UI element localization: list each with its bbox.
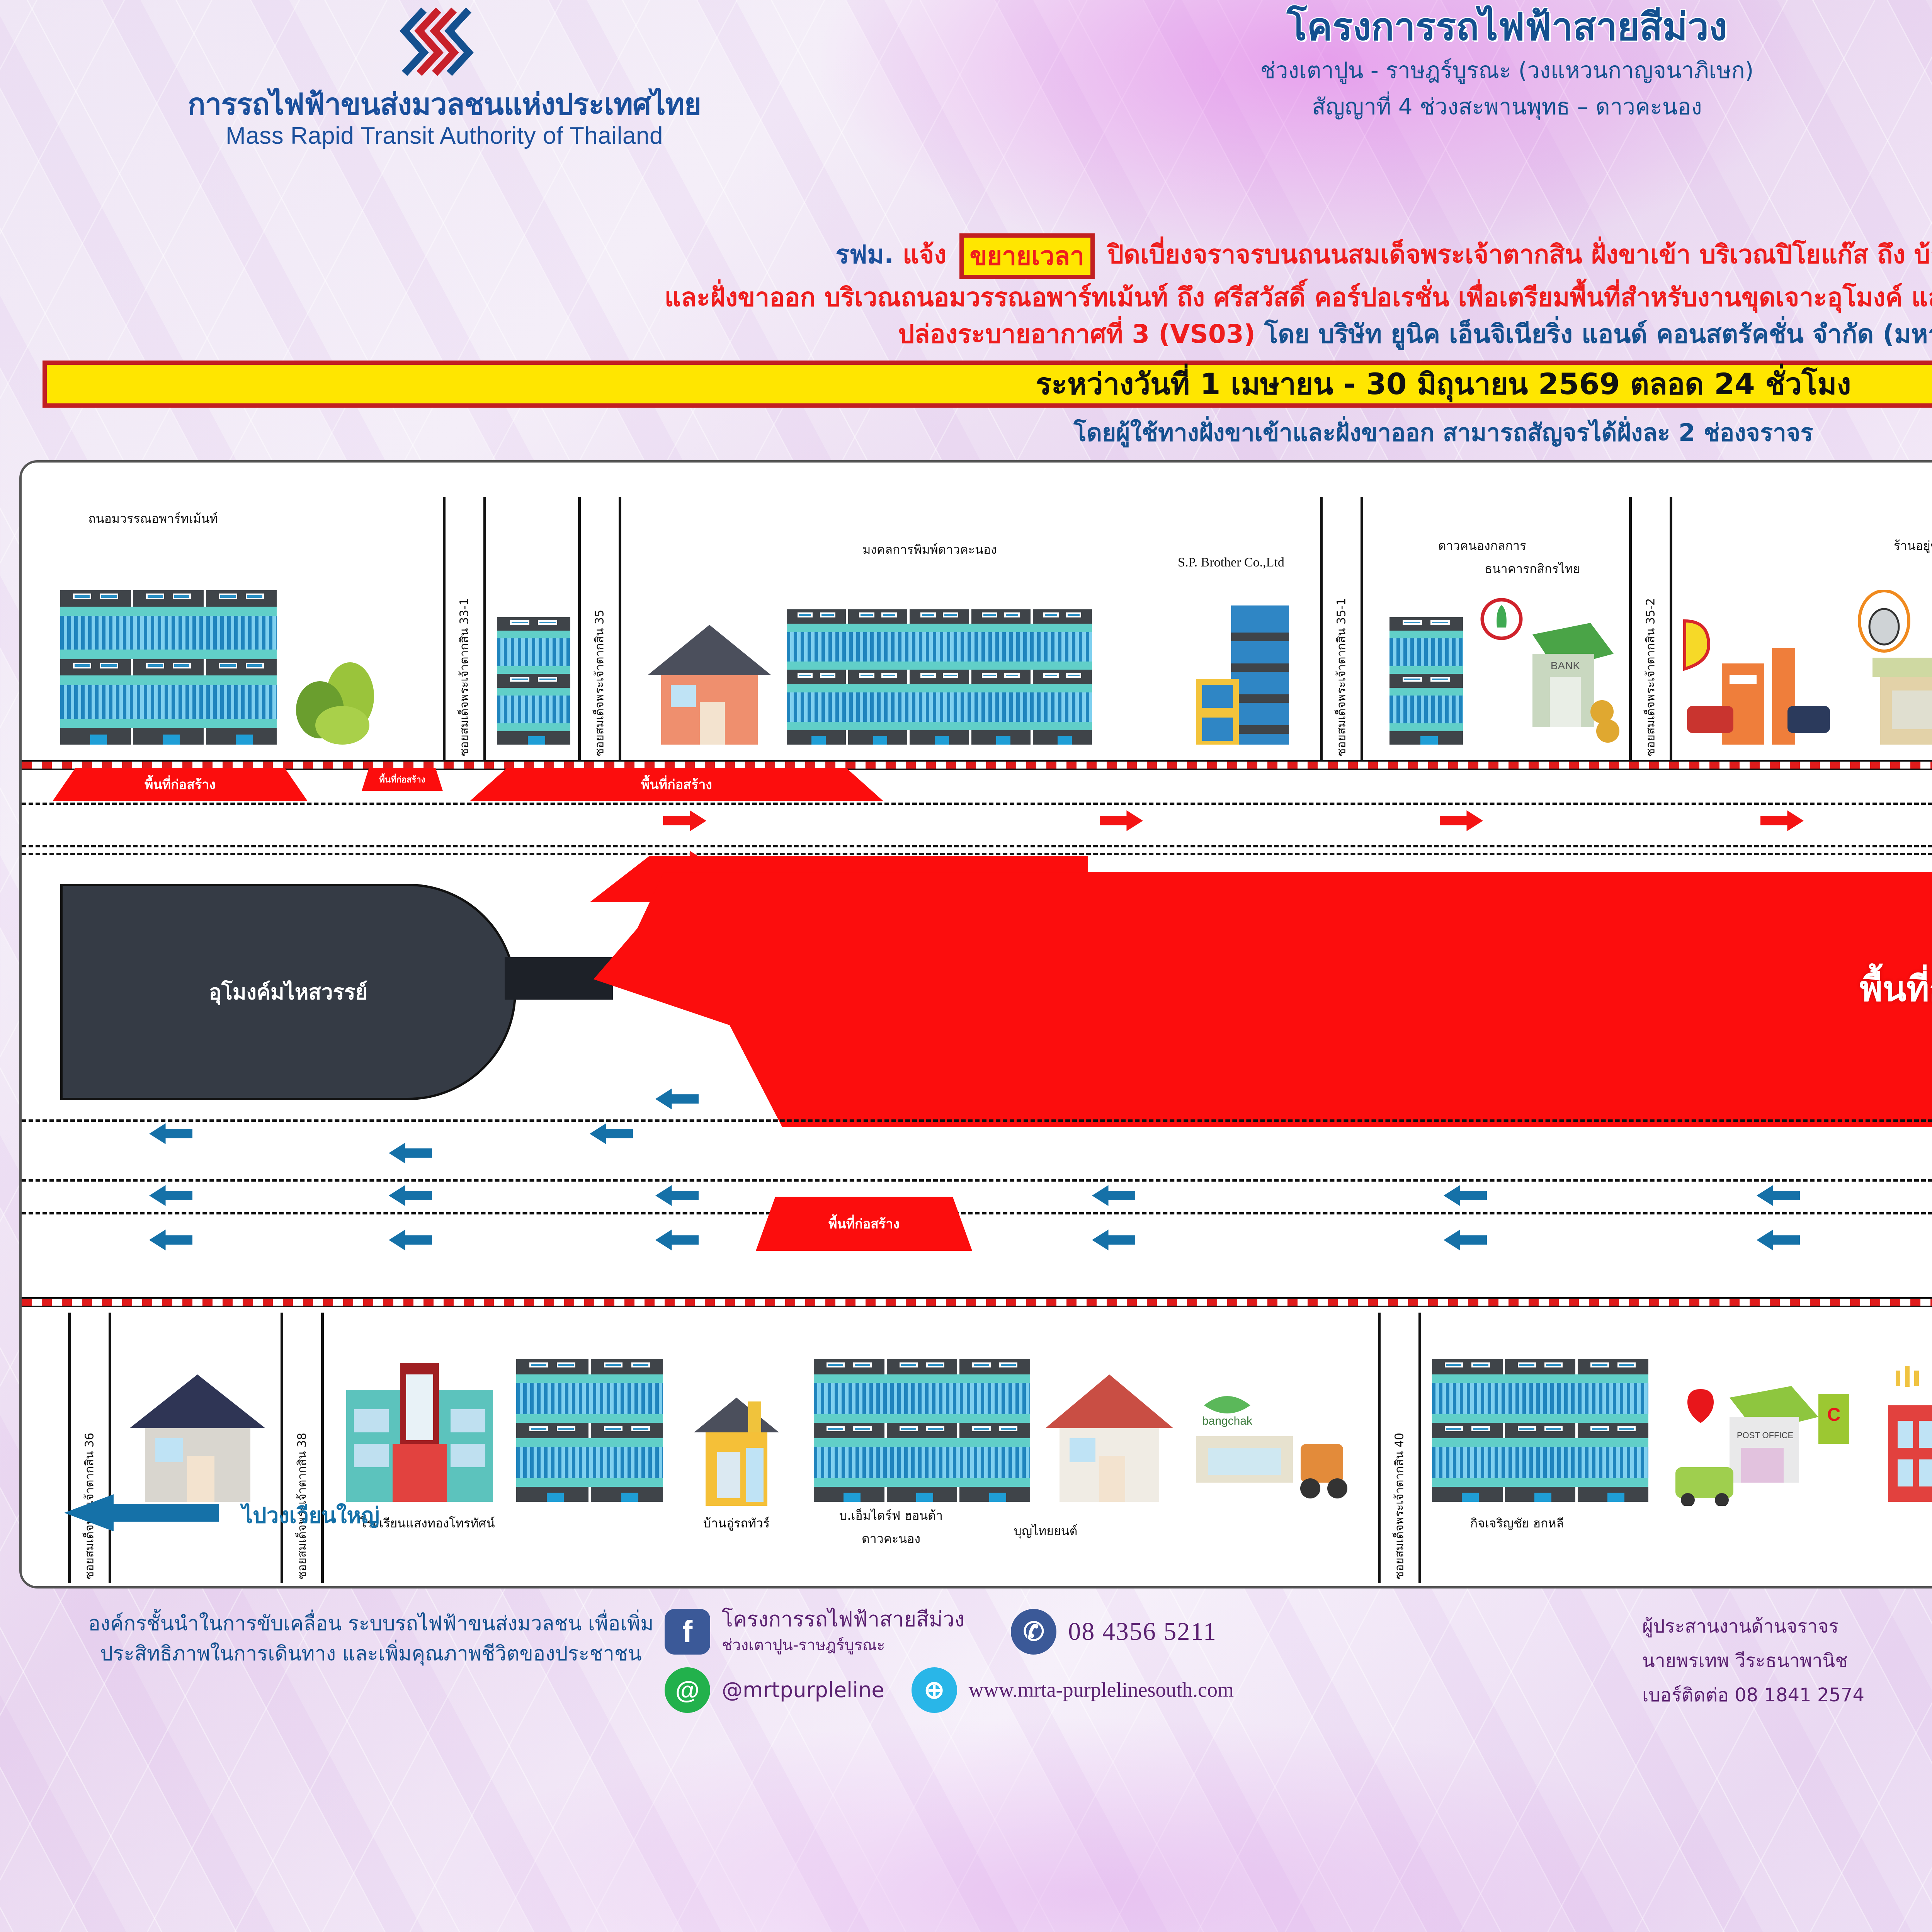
- mrta-logo-icon: [62, 7, 827, 84]
- soi-divider-38: ซอยสมเด็จพระเจ้าตากสิน 38: [281, 1313, 324, 1583]
- building-apartment: [1432, 1359, 1648, 1502]
- lane-dash-5: [22, 1179, 1932, 1182]
- facebook-icon[interactable]: f: [665, 1609, 710, 1655]
- construction-zone-small: พื้นที่ก่อสร้าง: [53, 768, 308, 801]
- contact-row-line-web[interactable]: @ @mrtpurpleline ⊕ www.mrta-purplelineso…: [665, 1667, 1785, 1713]
- announce-line1-rest: ปิดเบี่ยงจราจรบนถนนสมเด็จพระเจ้าตากสิน ฝ…: [1107, 240, 1932, 269]
- poi-label-sp-brother: S.P. Brother Co.,Ltd: [1123, 555, 1339, 570]
- lane-note: โดยผู้ใช้ทางฝั่งขาเข้าและฝั่งขาออก สามาร…: [23, 414, 1932, 452]
- date-banner-text: ระหว่างวันที่ 1 เมษายน - 30 มิถุนายน 256…: [1036, 361, 1851, 407]
- building-apartment: [814, 1359, 1030, 1502]
- soi-divider-36: ซอยสมเด็จพระเจ้าตากสิน 36: [68, 1313, 111, 1583]
- gas-station-icon: [1672, 617, 1834, 745]
- svg-text:BANK: BANK: [1551, 660, 1580, 672]
- project-subtitle-2: สัญญาที่ 4 ช่วงสะพานพุทธ – ดาวคะนอง: [1005, 92, 1932, 122]
- traffic-arrow-right: [1760, 810, 1804, 831]
- traffic-arrow-left: [1092, 1185, 1135, 1206]
- traffic-arrow-left: [1092, 1230, 1135, 1250]
- globe-icon[interactable]: ⊕: [912, 1667, 957, 1713]
- svg-text:POST OFFICE: POST OFFICE: [1737, 1430, 1793, 1440]
- bank-icon: BANK: [1475, 596, 1621, 747]
- building-apartment: [1389, 617, 1463, 745]
- website-url[interactable]: www.mrta-purplelinesouth.com: [969, 1677, 1234, 1703]
- page-title: โครงการรถไฟฟ้าสายสีม่วง: [1005, 5, 1932, 49]
- poi-label-mongkol-print: มงคลการพิมพ์ดาวคะนอง: [756, 540, 1104, 560]
- direction-label-left: ไปวงเวียนใหญ่: [242, 1498, 379, 1532]
- traffic-arrow-right: [1440, 810, 1483, 831]
- tunnel-label: อุโมงค์มไหสวรรย์: [209, 975, 368, 1009]
- announce-verb: แจ้ง: [903, 240, 946, 269]
- traffic-arrow-left: [1444, 1185, 1487, 1206]
- soi-label-35: ซอยสมเด็จพระเจ้าตากสิน 35: [591, 610, 609, 756]
- page-footer: องค์กรชั้นนำในการขับเคลื่อน ระบบรถไฟฟ้าข…: [0, 1599, 1932, 1792]
- poi-label-dao-khanong-mech: ดาวคนองกลการ: [1374, 536, 1590, 556]
- mrta-logo-block: การรถไฟฟ้าขนส่งมวลชนแห่งประเทศไทย Mass R…: [62, 7, 827, 150]
- coordinator-title: ผู้ประสานงานด้านจราจร: [1642, 1609, 1932, 1644]
- project-title-block: โครงการรถไฟฟ้าสายสีม่วง ช่วงเตาปูน - ราษ…: [1005, 5, 1932, 122]
- lane-dash-2: [22, 845, 1932, 847]
- poi-label-dao-khanong: ดาวคะนอง: [802, 1529, 980, 1549]
- soi-divider-35-1: ซอยสมเด็จพระเจ้าตากสิน 35-1: [1320, 497, 1363, 760]
- announcement-line-1: รฟม. แจ้ง ขยายเวลา ปิดเบี่ยงจราจรบนถนนสม…: [23, 233, 1932, 279]
- facebook-page-name[interactable]: โครงการรถไฟฟ้าสายสีม่วง: [722, 1606, 964, 1633]
- restaurant-icon: [1845, 590, 1932, 745]
- traffic-arrow-left: [149, 1185, 192, 1206]
- agency-abbr: รฟม.: [835, 240, 894, 269]
- vent-shaft-label: ปล่องระบายอากาศที่ 3 (VS03): [898, 319, 1255, 349]
- highlight-badge: ขยายเวลา: [959, 233, 1095, 279]
- poi-label-ban-u-rot-tour: บ้านอู่รถทัวร์: [655, 1514, 818, 1533]
- soi-divider-33-1: ซอยสมเด็จพระเจ้าตากสิน 33-1: [443, 497, 486, 760]
- agency-name-th: การรถไฟฟ้าขนส่งมวลชนแห่งประเทศไทย: [62, 89, 827, 120]
- poi-label-boonthai-yont: บุญไทยยนต์: [968, 1521, 1123, 1541]
- coordinator-name: นายพรเทพ วีระธนาพานิช: [1642, 1644, 1932, 1678]
- announcement-line-3: ปล่องระบายอากาศที่ 3 (VS03) โดย บริษัท ย…: [23, 316, 1932, 353]
- traffic-arrow-left: [389, 1143, 432, 1163]
- announcement-line-2: และฝั่งขาออก บริเวณถนอมวรรณอพาร์ทเม้นท์ …: [23, 279, 1932, 316]
- shop-house-icon: [686, 1390, 787, 1506]
- traffic-arrow-left: [389, 1230, 432, 1250]
- phone-icon[interactable]: ✆: [1011, 1609, 1056, 1655]
- agency-name-en: Mass Rapid Transit Authority of Thailand: [62, 122, 827, 150]
- traffic-arrow-left: [1757, 1230, 1800, 1250]
- svg-text:C: C: [1827, 1405, 1841, 1425]
- kerb-strip-top: [22, 760, 1932, 770]
- construction-zone-main-label: พื้นที่ก่อสร้าง: [1645, 961, 1932, 1016]
- soi-divider-35-2: ซอยสมเด็จพระเจ้าตากสิน 35-2: [1629, 497, 1672, 760]
- traffic-arrow-left: [590, 1123, 633, 1144]
- tree-icon: [288, 660, 389, 745]
- construction-zone-small: พื้นที่ก่อสร้าง: [470, 768, 883, 801]
- date-banner: ระหว่างวันที่ 1 เมษายน - 30 มิถุนายน 256…: [43, 361, 1932, 408]
- soi-label-33-1: ซอยสมเด็จพระเจ้าตากสิน 33-1: [456, 598, 474, 756]
- hotline-number[interactable]: 08 4356 5211: [1068, 1617, 1217, 1646]
- poi-label-mdrive-honda: บ.เอ็มไดร์ฟ ฮอนด้า: [802, 1506, 980, 1526]
- school-icon: [342, 1359, 497, 1502]
- construction-zone-small: พื้นที่ก่อสร้าง: [362, 768, 443, 791]
- coordinator-block: ผู้ประสานงานด้านจราจร นายพรเทพ วีระธนาพา…: [1642, 1609, 1932, 1712]
- poi-label-thanom-wan: ถนอมวรรณอพาร์ทเม้นท์: [45, 509, 261, 529]
- post-office-icon: POST OFFICE C: [1664, 1371, 1865, 1506]
- zone-label: พื้นที่ก่อสร้าง: [828, 1213, 900, 1234]
- coordinator-phone: เบอร์ติดต่อ 08 1841 2574: [1642, 1678, 1932, 1713]
- house-icon: [648, 625, 771, 745]
- tunnel-shape: อุโมงค์มไหสวรรย์: [60, 884, 516, 1100]
- contractor-label: โดย บริษัท ยูนิค เอ็นจิเนียริ่ง แอนด์ คอ…: [1264, 319, 1932, 349]
- traffic-arrow-left: [149, 1230, 192, 1250]
- traffic-arrow-left: [655, 1230, 699, 1250]
- bangchak-station-icon: bangchak: [1185, 1382, 1351, 1506]
- traffic-arrow-left: [389, 1185, 432, 1206]
- traffic-arrow-left: [1757, 1185, 1800, 1206]
- soi-label-35-1: ซอยสมเด็จพระเจ้าตากสิน 35-1: [1333, 598, 1351, 756]
- lane-dash-4: [22, 1119, 1932, 1122]
- traffic-arrow-right: [663, 810, 706, 831]
- traffic-arrow-left: [655, 1185, 699, 1206]
- building-apartment: [60, 590, 277, 745]
- contact-row-facebook[interactable]: f โครงการรถไฟฟ้าสายสีม่วง ช่วงเตาปูน-ราษ…: [665, 1606, 1785, 1657]
- poi-label-kitcharoenchai: กิจเจริญชัย ฮกหลี: [1420, 1514, 1614, 1533]
- svg-text:bangchak: bangchak: [1202, 1415, 1253, 1427]
- soi-label-40: ซอยสมเด็จพระเจ้าตากสิน 40: [1391, 1433, 1409, 1579]
- facebook-page-sub: ช่วงเตาปูน-ราษฎร์บูรณะ: [722, 1633, 964, 1657]
- page-header: การรถไฟฟ้าขนส่งมวลชนแห่งประเทศไทย Mass R…: [0, 0, 1932, 232]
- nt-office-icon: nt: [1880, 1363, 1932, 1506]
- kerb-strip-bottom: [22, 1297, 1932, 1307]
- traffic-arrow-right: [1100, 810, 1143, 831]
- zone-label: พื้นที่ก่อสร้าง: [379, 773, 425, 786]
- soi-label-35-2: ซอยสมเด็จพระเจ้าตากสิน 35-2: [1642, 598, 1660, 756]
- lane-dash-1: [22, 803, 1932, 805]
- soi-divider-40: ซอยสมเด็จพระเจ้าตากสิน 40: [1378, 1313, 1421, 1583]
- line-id[interactable]: @mrtpurpleline: [722, 1677, 884, 1703]
- house-icon: [1046, 1374, 1173, 1502]
- office-tower-icon: [1185, 605, 1301, 745]
- project-subtitle-1: ช่วงเตาปูน - ราษฎร์บูรณะ (วงแหวนกาญจนาภิ…: [1005, 55, 1932, 85]
- construction-zone-small: พื้นที่ก่อสร้าง: [756, 1197, 972, 1251]
- announcement-block: รฟม. แจ้ง ขยายเวลา ปิดเบี่ยงจราจรบนถนนสม…: [0, 233, 1932, 452]
- lane-dash-3: [22, 853, 1932, 855]
- poi-label-kasikorn-bank: ธนาคารกสิกรไทย: [1436, 559, 1629, 579]
- traffic-arrow-left: [655, 1088, 699, 1109]
- traffic-diversion-map: ถนอมวรรณอพาร์ทเม้นท์ ซอยสมเด็จพระเจ้าตาก…: [19, 460, 1932, 1588]
- traffic-arrow-left: [1444, 1230, 1487, 1250]
- zone-label: พื้นที่ก่อสร้าง: [145, 774, 216, 795]
- contact-block: f โครงการรถไฟฟ้าสายสีม่วง ช่วงเตาปูน-ราษ…: [665, 1606, 1785, 1723]
- zone-label: พื้นที่ก่อสร้าง: [641, 774, 712, 795]
- lane-dash-6: [22, 1212, 1932, 1214]
- traffic-arrow-left: [149, 1123, 192, 1144]
- poi-label-yu-khao-yu-nam: ร้านอยู่ข้าวอยู่น้ำ: [1838, 536, 1932, 556]
- line-icon[interactable]: @: [665, 1667, 710, 1713]
- org-slogan: องค์กรชั้นนำในการขับเคลื่อน ระบบรถไฟฟ้าข…: [81, 1609, 661, 1669]
- soi-divider-35: ซอยสมเด็จพระเจ้าตากสิน 35: [578, 497, 621, 760]
- building-apartment: [787, 609, 1092, 745]
- house-icon: [130, 1374, 265, 1502]
- building-apartment: [497, 617, 570, 745]
- building-apartment: [516, 1359, 663, 1502]
